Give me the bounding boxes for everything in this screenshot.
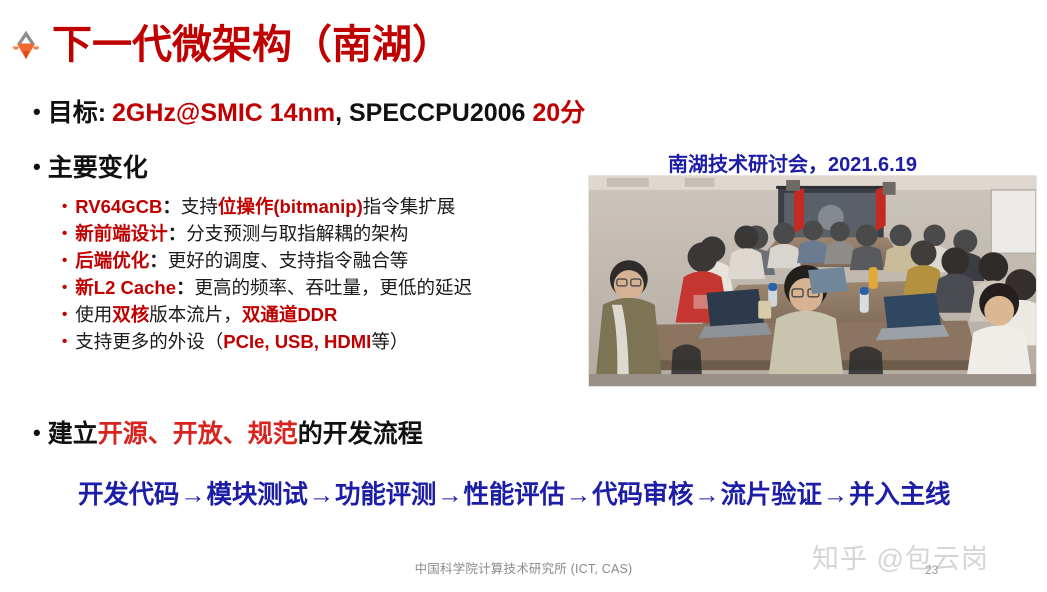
- bullet-dot-icon: •: [62, 226, 67, 241]
- meeting-photo-graphic: [589, 176, 1036, 386]
- list-item: •后端优化：更好的调度、支持指令融合等: [62, 252, 472, 271]
- bullet-dot-icon: •: [62, 280, 67, 295]
- item-text-pre: 支持: [181, 196, 218, 217]
- flow-step-2: 模块测试: [207, 481, 308, 509]
- item-sep: ：: [176, 277, 195, 298]
- item-text-post: 等）: [371, 331, 408, 352]
- bullet-dot-icon: •: [62, 253, 67, 268]
- development-flow: 开发代码→模块测试→功能评测→性能评估→代码审核→流片验证→并入主线: [78, 474, 950, 511]
- goal-label: 目标:: [48, 99, 106, 127]
- photo-caption: 南湖技术研讨会，2021.6.19: [668, 148, 917, 177]
- flow-step-7: 并入主线: [849, 481, 950, 509]
- item-key: 新L2 Cache: [75, 277, 176, 298]
- item-key: 后端优化: [75, 250, 149, 271]
- item-text-post: 指令集扩展: [363, 196, 456, 217]
- goal-value-freq: 2GHz@SMIC 14nm: [112, 99, 335, 127]
- bullet-dot-icon: •: [33, 421, 41, 445]
- process-heading-post: 的开发流程: [298, 420, 423, 448]
- zhihu-watermark: 知乎 @包云岗: [812, 537, 989, 576]
- item-text-pre: 支持更多的外设（: [75, 331, 223, 352]
- item-highlight-2: 双通道DDR: [242, 304, 338, 325]
- flow-step-3: 功能评测: [335, 481, 436, 509]
- flow-arrow-icon: →: [822, 481, 849, 509]
- flow-step-5: 代码审核: [592, 481, 693, 509]
- item-key: RV64GCB: [75, 196, 162, 217]
- list-item: •新前端设计：分支预测与取指解耦的架构: [62, 225, 472, 244]
- changes-list: •RV64GCB：支持位操作(bitmanip)指令集扩展 •新前端设计：分支预…: [62, 198, 472, 360]
- flow-arrow-icon: →: [308, 481, 335, 509]
- item-highlight: 位操作(bitmanip): [218, 196, 363, 217]
- process-heading-highlight: 开源、开放、规范: [98, 420, 298, 448]
- item-sep: ：: [149, 250, 168, 271]
- bullet-dot-icon: •: [33, 100, 41, 124]
- goal-value-score: 20分: [532, 99, 585, 127]
- meeting-photo: [588, 175, 1037, 387]
- item-text-pre: 分支预测与取指解耦的架构: [186, 223, 408, 244]
- flow-arrow-icon: →: [436, 481, 463, 509]
- changes-heading-text: 主要变化: [48, 154, 148, 182]
- list-item: •RV64GCB：支持位操作(bitmanip)指令集扩展: [62, 198, 472, 217]
- mountain-logo-icon: [8, 28, 44, 62]
- flow-step-6: 流片验证: [721, 481, 822, 509]
- slide-canvas: 下一代微架构（南湖） •目标:2GHz@SMIC 14nm, SPECCPU20…: [0, 0, 1047, 592]
- bullet-dot-icon: •: [62, 307, 67, 322]
- process-heading: •建立开源、开放、规范的开发流程: [33, 421, 423, 449]
- list-item: •使用双核版本流片，双通道DDR: [62, 306, 472, 325]
- item-text-pre: 更好的调度、支持指令融合等: [168, 250, 409, 271]
- process-heading-pre: 建立: [48, 420, 98, 448]
- list-item: •支持更多的外设（PCIe, USB, HDMI等）: [62, 333, 472, 352]
- goal-bullet: •目标:2GHz@SMIC 14nm, SPECCPU2006 20分: [33, 100, 585, 128]
- flow-step-4: 性能评估: [464, 481, 565, 509]
- slide-title-row: 下一代微架构（南湖）: [8, 18, 452, 72]
- flow-arrow-icon: →: [565, 481, 592, 509]
- item-highlight: 双核: [112, 304, 149, 325]
- item-sep: ：: [168, 223, 187, 244]
- list-item: •新L2 Cache：更高的频率、吞吐量，更低的延迟: [62, 279, 472, 298]
- item-key: 新前端设计: [75, 223, 168, 244]
- flow-arrow-icon: →: [179, 481, 206, 509]
- bullet-dot-icon: •: [33, 155, 41, 179]
- item-text-post: 版本流片，: [149, 304, 242, 325]
- bullet-dot-icon: •: [62, 334, 67, 349]
- flow-step-1: 开发代码: [78, 481, 179, 509]
- flow-arrow-icon: →: [693, 481, 720, 509]
- goal-value-bench: , SPECCPU2006: [335, 99, 532, 127]
- item-text-pre: 使用: [75, 304, 112, 325]
- item-text-pre: 更高的频率、吞吐量，更低的延迟: [195, 277, 473, 298]
- bullet-dot-icon: •: [62, 199, 67, 214]
- item-sep: ：: [162, 196, 181, 217]
- page-title: 下一代微架构（南湖）: [52, 24, 452, 66]
- item-highlight: PCIe, USB, HDMI: [223, 331, 371, 352]
- changes-heading: •主要变化: [33, 155, 148, 183]
